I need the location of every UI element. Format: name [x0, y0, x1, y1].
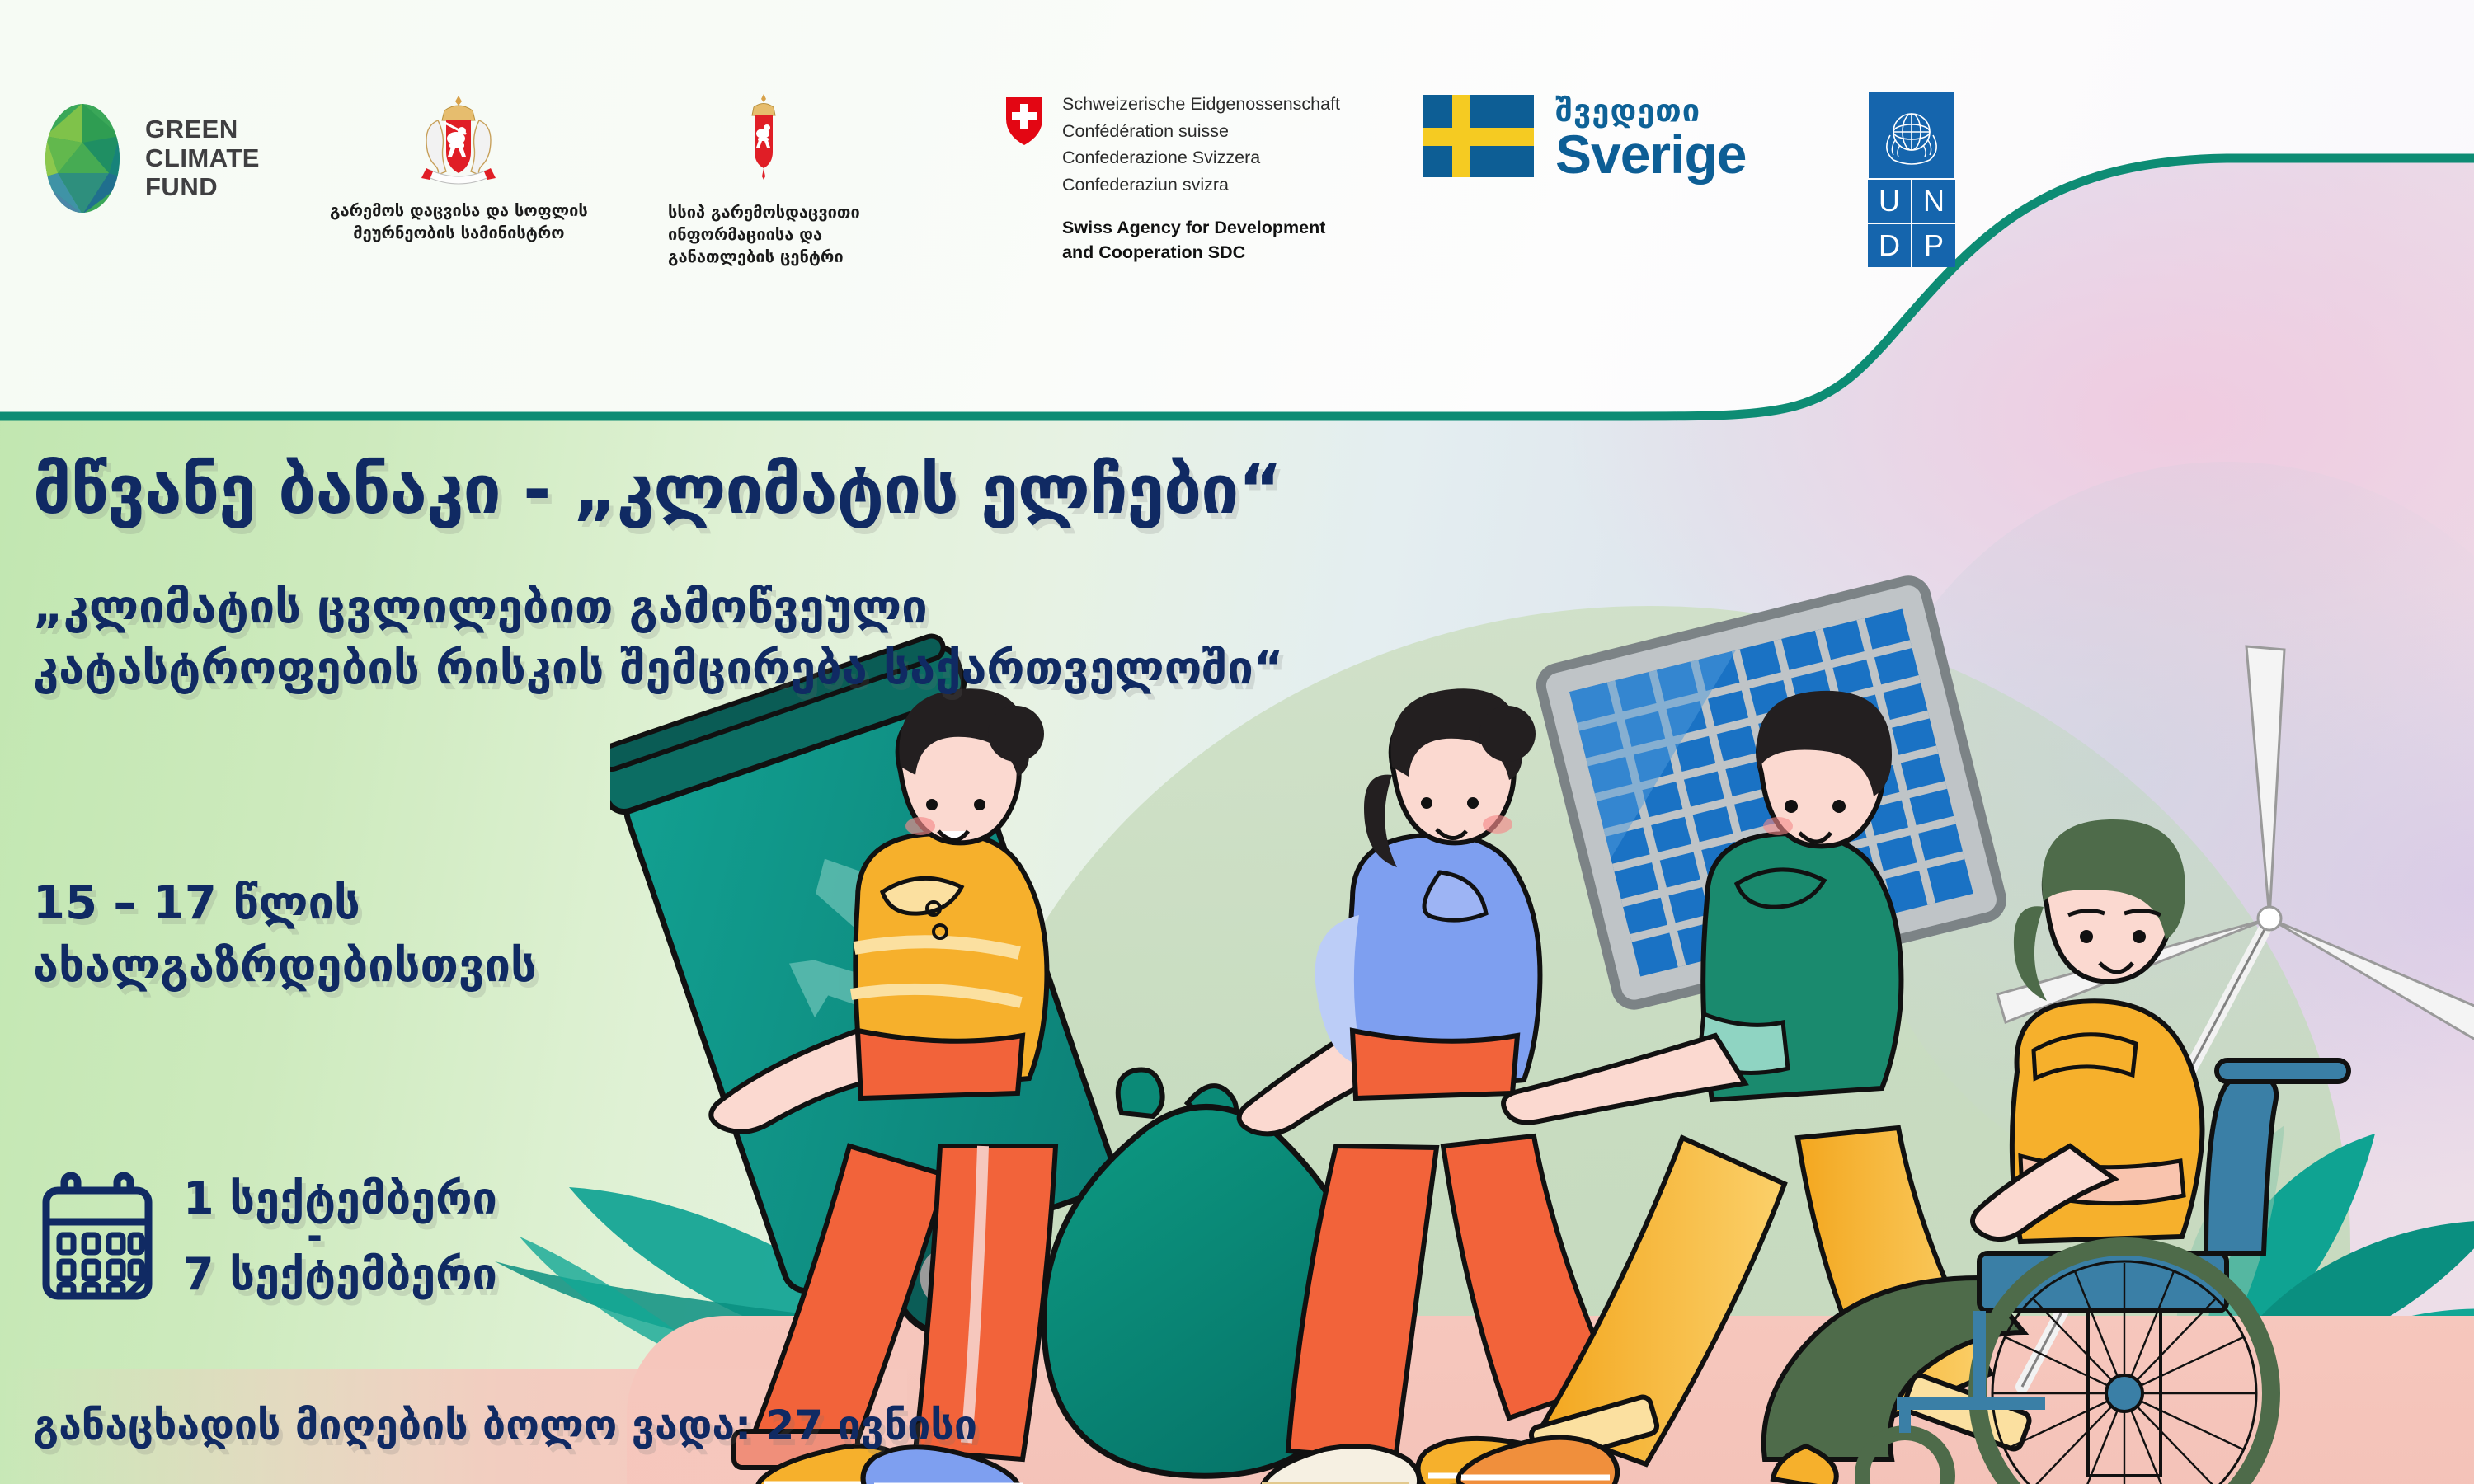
un-emblem-icon [1875, 99, 1948, 171]
centre-line-3: განათლების ცენტრი [668, 246, 860, 268]
page-subtitle: „კლიმატის ცვლილებით გამოწვეული კატასტროფ… [33, 577, 1286, 699]
camp-dates-text: 1 სექტემბერი - 7 სექტემბერი [183, 1172, 497, 1300]
undp-letter-n: N [1912, 180, 1955, 223]
logo-sweden[interactable]: შვედეთი Sverige [1423, 92, 1746, 181]
swiss-bold-line-1: Swiss Agency for Development [1062, 215, 1340, 241]
gcf-line-1: GREEN [145, 115, 260, 144]
swiss-shield-icon [1004, 96, 1044, 147]
swiss-line-de: Schweizerische Eidgenossenschaft [1062, 91, 1340, 118]
swiss-line-it: Confederazione Svizzera [1062, 144, 1340, 171]
georgia-small-emblem-icon [735, 91, 793, 190]
gcf-line-2: CLIMATE [145, 144, 260, 173]
logo-green-climate-fund[interactable]: GREEN CLIMATE FUND [33, 103, 260, 214]
swiss-line-rm: Confederaziun svizra [1062, 171, 1340, 199]
undp-letter-u: U [1868, 180, 1911, 223]
swiss-agency-name: Swiss Agency for Development and Coopera… [1062, 215, 1340, 265]
sweden-flag-icon [1423, 95, 1534, 177]
undp-letter-d: D [1868, 224, 1911, 267]
audience-line-2: ახალგაზრდებისთვის [33, 935, 537, 998]
audience-block: 15 – 17 წლის ახალგაზრდებისთვის [33, 872, 537, 997]
application-deadline: განაცხადის მიღების ბოლო ვადა: 27 ივნისი [33, 1402, 977, 1449]
undp-letters-row-1: U N [1868, 180, 1955, 223]
centre-line-2: ინფორმაციისა და [668, 223, 860, 246]
date-start: 1 სექტემბერი [183, 1172, 497, 1225]
partner-logo-bar: GREEN CLIMATE FUND [0, 0, 2474, 416]
gcf-gem-icon [33, 103, 132, 214]
centre-caption: სსიპ გარემოსდაცვითი ინფორმაციისა და განა… [668, 201, 860, 268]
date-separator: - [183, 1225, 497, 1248]
climate-camp-illustration [610, 569, 2474, 1484]
ministry-line-2: მეურნეობის სამინისტრო [330, 222, 588, 244]
swiss-line-fr: Confédération suisse [1062, 118, 1340, 145]
logo-undp[interactable]: U N D P [1868, 92, 1955, 267]
camp-dates-row: 1 სექტემბერი - 7 სექტემბერი [40, 1171, 497, 1303]
logo-environment-education-centre[interactable]: სსიპ გარემოსდაცვითი ინფორმაციისა და განა… [668, 91, 860, 268]
undp-letters-row-2: D P [1868, 224, 1955, 267]
georgia-coat-of-arms-icon [397, 91, 520, 190]
gcf-label: GREEN CLIMATE FUND [145, 115, 260, 201]
un-emblem-tile [1869, 92, 1954, 178]
logo-swiss-sdc[interactable]: Schweizerische Eidgenossenschaft Confédé… [1004, 91, 1340, 265]
calendar-icon [40, 1171, 155, 1303]
ministry-line-1: გარემოს დაცვისა და სოფლის [330, 200, 588, 222]
undp-letter-p: P [1912, 224, 1955, 267]
swiss-languages: Schweizerische Eidgenossenschaft Confédé… [1062, 91, 1340, 199]
date-end: 7 სექტემბერი [183, 1248, 497, 1301]
centre-line-1: სსიპ გარემოსდაცვითი [668, 201, 860, 223]
sweden-label-swedish: Sverige [1555, 129, 1746, 181]
gcf-line-3: FUND [145, 173, 260, 202]
page-title: მწვანე ბანაკი - „კლიმატის ელჩები“ [33, 455, 1282, 526]
poster-canvas: GREEN CLIMATE FUND [0, 0, 2474, 1484]
audience-line-1: 15 – 17 წლის [33, 872, 537, 935]
logo-ministry-environment[interactable]: გარემოს დაცვისა და სოფლის მეურნეობის სამ… [330, 91, 588, 244]
swiss-bold-line-2: and Cooperation SDC [1062, 240, 1340, 265]
ministry-caption: გარემოს დაცვისა და სოფლის მეურნეობის სამ… [330, 200, 588, 244]
